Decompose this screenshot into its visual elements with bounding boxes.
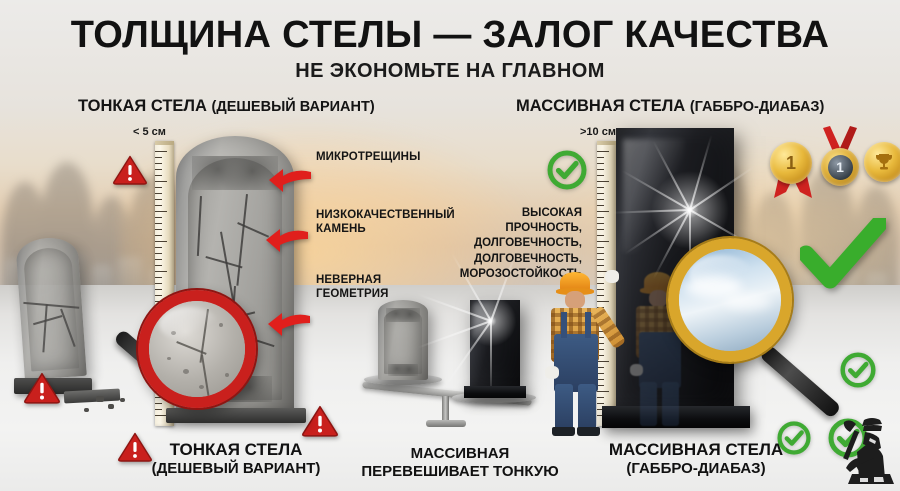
page-subtitle: НЕ ЭКОНОМЬТЕ НА ГЛАВНОМ xyxy=(0,60,900,83)
caption-middle-line2: ПЕРЕВЕШИВАЕТ ТОНКУЮ xyxy=(350,463,570,481)
section-heading-right: МАССИВНАЯ СТЕЛА (ГАББРО-ДИАБАЗ) xyxy=(516,97,824,116)
warning-triangle-icon xyxy=(113,155,147,185)
defect-label-microcracks: МИКРОТРЕЩИНЫ xyxy=(316,150,420,164)
thickness-label-left: < 5 см xyxy=(133,126,166,138)
caption-right: МАССИВНАЯ СТЕЛА (ГАББРО-ДИАБАЗ) xyxy=(556,440,836,478)
caption-left-line1: ТОНКАЯ СТЕЛА xyxy=(86,440,386,460)
section-heading-left: ТОНКАЯ СТЕЛА (ДЕШЕВЫЙ ВАРИАНТ) xyxy=(78,97,375,116)
section-heading-right-paren: (ГАББРО-ДИАБАЗ) xyxy=(690,99,825,115)
benefits-list: ВЫСОКАЯ ПРОЧНОСТЬ, ДОЛГОВЕЧНОСТЬ, ДОЛГОВ… xyxy=(448,206,582,282)
medal-label: 1 xyxy=(828,155,853,180)
benefit-item: ДОЛГОВЕЧНОСТЬ, xyxy=(448,236,582,251)
caption-left: ТОНКАЯ СТЕЛА (ДЕШЕВЫЙ ВАРИАНТ) xyxy=(86,440,386,478)
section-heading-left-paren: (ДЕШЕВЫЙ ВАРИАНТ) xyxy=(212,99,375,115)
section-heading-right-main: МАССИВНАЯ СТЕЛА xyxy=(516,97,685,115)
big-checkmark-icon xyxy=(800,218,886,292)
page-title: ТОЛЩИНА СТЕЛЫ — ЗАЛОГ КАЧЕСТВА xyxy=(0,14,900,57)
check-circle-icon xyxy=(840,352,876,388)
warning-triangle-icon xyxy=(302,405,338,437)
caption-right-line1: МАССИВНАЯ СТЕЛА xyxy=(556,440,836,460)
red-arrow-icon xyxy=(266,312,312,338)
caption-middle-line1: МАССИВНАЯ xyxy=(350,445,570,463)
check-circle-icon xyxy=(547,150,587,190)
defect-label-wrong-geometry: НЕВЕРНАЯ ГЕОМЕТРИЯ xyxy=(316,273,389,302)
red-arrow-icon xyxy=(268,168,312,194)
warning-triangle-icon xyxy=(24,372,60,404)
infographic-canvas: ТОЛЩИНА СТЕЛЫ — ЗАЛОГ КАЧЕСТВА НЕ ЭКОНОМ… xyxy=(0,0,900,491)
benefit-item: ДОЛГОВЕЧНОСТЬ, xyxy=(448,252,582,267)
ruler-right xyxy=(597,141,616,426)
benefit-item: ВЫСОКАЯ ПРОЧНОСТЬ, xyxy=(448,206,582,236)
stonemason-icon xyxy=(834,414,896,491)
caption-middle: МАССИВНАЯ ПЕРЕВЕШИВАЕТ ТОНКУЮ xyxy=(350,445,570,481)
caption-right-line2: (ГАББРО-ДИАБАЗ) xyxy=(556,460,836,478)
red-arrow-icon xyxy=(264,228,310,254)
caption-left-line2: (ДЕШЕВЫЙ ВАРИАНТ) xyxy=(86,460,386,478)
trophy-icon xyxy=(874,152,894,172)
defect-label-low-quality-stone: НИЗКОКАЧЕСТВЕННЫЙ КАМЕНЬ xyxy=(316,208,455,237)
medal-label: 1 xyxy=(770,142,812,184)
section-heading-left-main: ТОНКАЯ СТЕЛА xyxy=(78,97,207,115)
thickness-label-right: >10 см xyxy=(580,126,616,138)
